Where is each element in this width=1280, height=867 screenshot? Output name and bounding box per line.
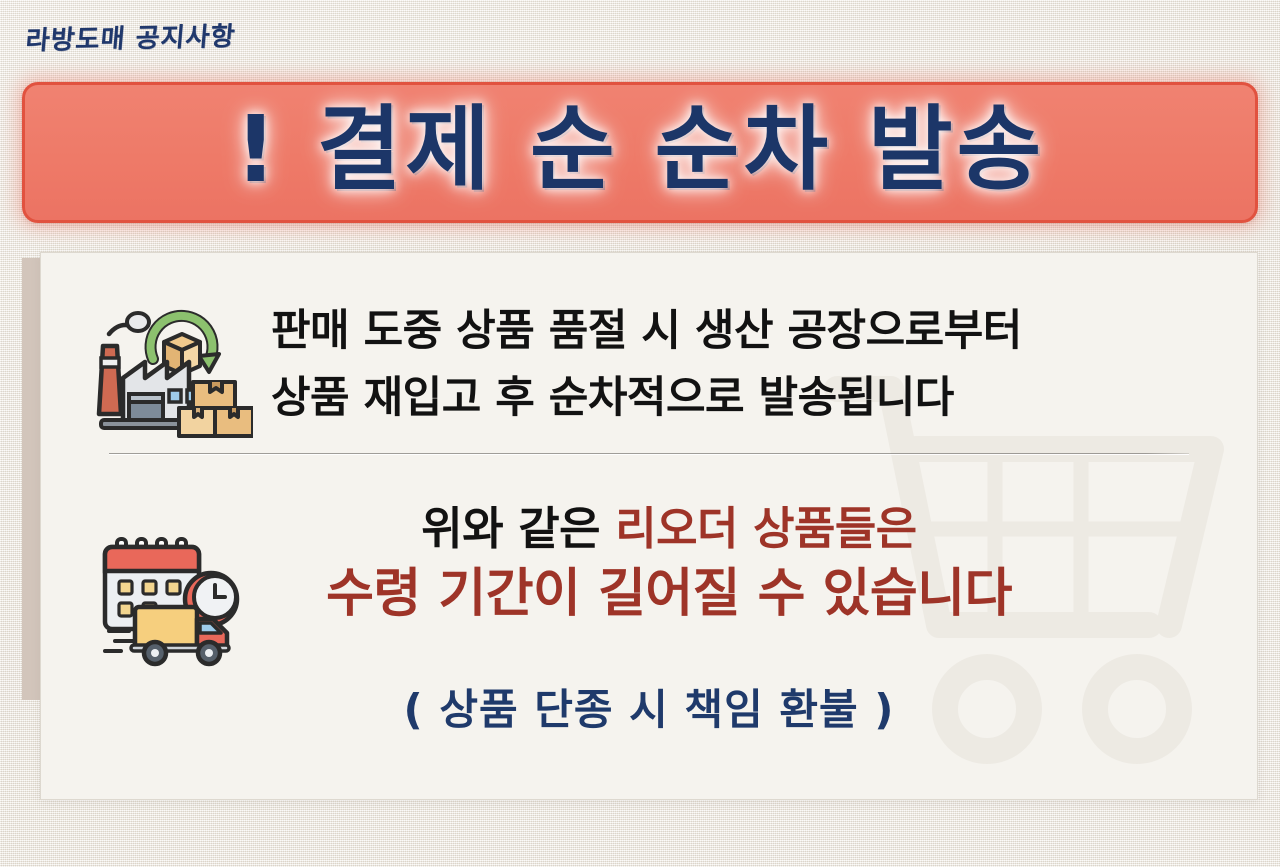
title-banner: ! 결제 순 순차 발송 (22, 82, 1258, 223)
restock-text: 판매 도중 상품 품절 시 생산 공장으로부터 상품 재입고 후 순차적으로 발… (271, 298, 1223, 431)
notice-card: 판매 도중 상품 품절 시 생산 공장으로부터 상품 재입고 후 순차적으로 발… (40, 252, 1258, 800)
reorder-line-1-prefix: 위와 같은 (421, 502, 615, 555)
calendar-clock-truck-icon (99, 535, 249, 672)
banner-title: ! 결제 순 순차 발송 (235, 104, 1046, 202)
brand-eyebrow: 라방도매 공지사항 (24, 16, 237, 57)
restock-line-1: 판매 도중 상품 품절 시 생산 공장으로부터 (271, 298, 1223, 365)
section-divider (109, 453, 1189, 454)
reorder-line-2: 수령 기간이 길어질 수 있습니다 (115, 563, 1223, 626)
reorder-line-1: 위와 같은 리오더 상품들은 (115, 502, 1223, 557)
factory-reorder-icon (75, 290, 253, 440)
restock-section: 판매 도중 상품 품절 시 생산 공장으로부터 상품 재입고 후 순차적으로 발… (75, 253, 1223, 449)
restock-line-2: 상품 재입고 후 순차적으로 발송됩니다 (271, 365, 1223, 432)
refund-footnote: ( 상품 단종 시 책임 환불 ) (75, 676, 1223, 737)
poster-background: 라방도매 공지사항 ! 결제 순 순차 발송 (0, 0, 1280, 867)
reorder-line-1-highlight: 리오더 상품들은 (615, 502, 916, 555)
